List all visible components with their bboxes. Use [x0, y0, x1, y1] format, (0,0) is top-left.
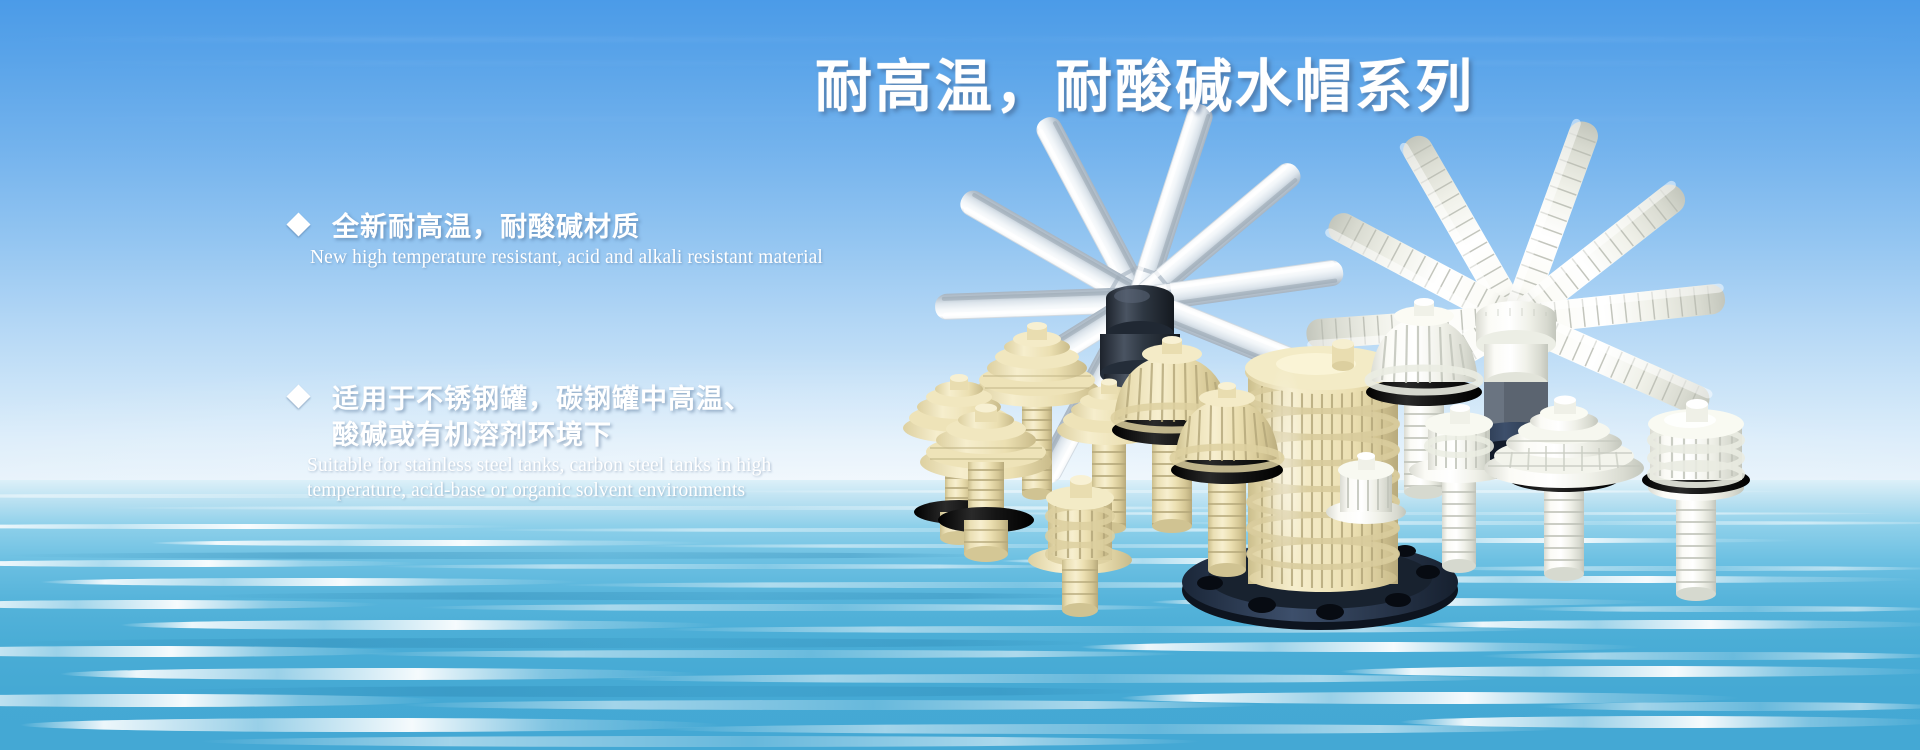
feature-2-zh-line2: 酸碱或有机溶剂环境下	[332, 418, 771, 454]
page-title: 耐高温，耐酸碱水帽系列	[815, 58, 1475, 118]
feature-2-en-line1: Suitable for stainless steel tanks, carb…	[307, 455, 771, 478]
feature-bullet-2: 适用于不锈钢罐，碳钢罐中高温、 酸碱或有机溶剂环境下 Suitable for …	[290, 382, 771, 502]
diamond-bullet-icon	[286, 384, 310, 408]
product-banner: 耐高温，耐酸碱水帽系列 全新耐高温，耐酸碱材质 New high tempera…	[0, 0, 1920, 750]
feature-1-en: New high temperature resistant, acid and…	[310, 247, 823, 270]
diamond-bullet-icon	[286, 212, 310, 236]
feature-2-zh-line1: 适用于不锈钢罐，碳钢罐中高温、	[332, 382, 771, 418]
feature-2-en-line2: temperature, acid-base or organic solven…	[307, 480, 771, 503]
feature-bullet-1: 全新耐高温，耐酸碱材质 New high temperature resista…	[290, 210, 823, 269]
filter-nozzle	[1642, 399, 1750, 601]
feature-1-zh: 全新耐高温，耐酸碱材质	[332, 210, 823, 246]
